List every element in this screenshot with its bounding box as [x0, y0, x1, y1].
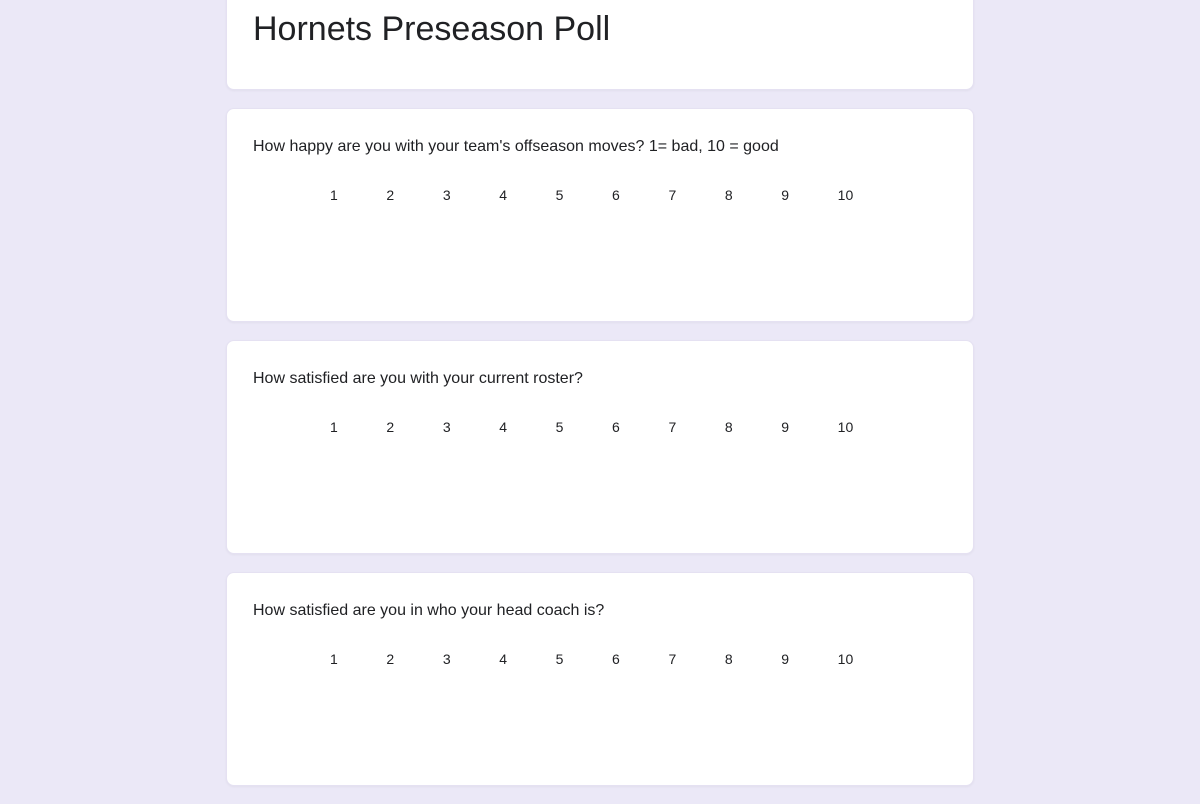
scale-label-3-4: 4 [498, 649, 507, 669]
scale-option-3-1[interactable]: 1 [329, 649, 385, 713]
scale-radio-3-2[interactable] [385, 669, 405, 713]
scale-label-3-3: 3 [442, 649, 451, 669]
page-title: Hornets Preseason Poll [253, 7, 947, 51]
scale-radio-2-5[interactable] [555, 437, 575, 481]
scale-label-3-9: 9 [780, 649, 789, 669]
linear-scale-2[interactable]: 1 2 3 4 5 [329, 417, 893, 481]
scale-label-1-2: 2 [385, 185, 394, 205]
scale-label-3-2: 2 [385, 649, 394, 669]
scale-label-3-8: 8 [724, 649, 733, 669]
scale-label-2-8: 8 [724, 417, 733, 437]
scale-option-3-3[interactable]: 3 [442, 649, 498, 713]
scale-radio-2-4[interactable] [498, 437, 518, 481]
form-header-card: Hornets Preseason Poll [226, 0, 974, 90]
scale-radio-3-4[interactable] [498, 669, 518, 713]
scale-option-3-5[interactable]: 5 [555, 649, 611, 713]
scale-label-1-9: 9 [780, 185, 789, 205]
scale-option-2-6[interactable]: 6 [611, 417, 667, 481]
question-title-1: How happy are you with your team's offse… [253, 135, 947, 159]
scale-label-2-7: 7 [667, 417, 676, 437]
scale-option-1-7[interactable]: 7 [667, 185, 723, 249]
question-title-3: How satisfied are you in who your head c… [253, 599, 947, 623]
scale-option-2-7[interactable]: 7 [667, 417, 723, 481]
scale-option-2-4[interactable]: 4 [498, 417, 554, 481]
scale-label-3-10: 10 [837, 649, 854, 669]
scale-label-3-6: 6 [611, 649, 620, 669]
scale-option-2-3[interactable]: 3 [442, 417, 498, 481]
scale-option-1-5[interactable]: 5 [555, 185, 611, 249]
scale-radio-3-9[interactable] [780, 669, 800, 713]
scale-option-2-9[interactable]: 9 [780, 417, 836, 481]
scale-radio-1-10[interactable] [837, 205, 857, 249]
scale-label-2-6: 6 [611, 417, 620, 437]
linear-scale-3[interactable]: 1 2 3 4 5 [329, 649, 893, 713]
scale-option-1-2[interactable]: 2 [385, 185, 441, 249]
scale-label-1-4: 4 [498, 185, 507, 205]
scale-radio-2-10[interactable] [837, 437, 857, 481]
scale-option-2-2[interactable]: 2 [385, 417, 441, 481]
scale-label-1-10: 10 [837, 185, 854, 205]
question-card-2[interactable]: How satisfied are you with your current … [226, 340, 974, 554]
scale-option-3-6[interactable]: 6 [611, 649, 667, 713]
scale-radio-2-2[interactable] [385, 437, 405, 481]
scale-radio-1-6[interactable] [611, 205, 631, 249]
scale-label-1-3: 3 [442, 185, 451, 205]
scale-radio-1-5[interactable] [555, 205, 575, 249]
scale-option-2-8[interactable]: 8 [724, 417, 780, 481]
scale-label-3-1: 1 [329, 649, 338, 669]
scale-label-1-6: 6 [611, 185, 620, 205]
scale-option-3-2[interactable]: 2 [385, 649, 441, 713]
scale-option-1-10[interactable]: 10 [837, 185, 893, 249]
linear-scale-1[interactable]: 1 2 3 4 5 [329, 185, 893, 249]
scale-label-1-1: 1 [329, 185, 338, 205]
scale-radio-3-3[interactable] [442, 669, 462, 713]
form-column: Hornets Preseason Poll How happy are you… [226, 0, 974, 804]
scale-radio-1-8[interactable] [724, 205, 744, 249]
scale-label-1-5: 5 [555, 185, 564, 205]
scale-option-1-3[interactable]: 3 [442, 185, 498, 249]
scale-radio-2-6[interactable] [611, 437, 631, 481]
scale-label-3-7: 7 [667, 649, 676, 669]
scale-label-1-8: 8 [724, 185, 733, 205]
form-page: Hornets Preseason Poll How happy are you… [0, 0, 1200, 630]
scale-radio-3-7[interactable] [667, 669, 687, 713]
scale-label-2-10: 10 [837, 417, 854, 437]
scale-label-2-3: 3 [442, 417, 451, 437]
scale-radio-2-3[interactable] [442, 437, 462, 481]
scale-option-2-10[interactable]: 10 [837, 417, 893, 481]
scale-option-2-1[interactable]: 1 [329, 417, 385, 481]
scale-radio-2-8[interactable] [724, 437, 744, 481]
scale-radio-2-7[interactable] [667, 437, 687, 481]
scale-option-2-5[interactable]: 5 [555, 417, 611, 481]
scale-option-1-1[interactable]: 1 [329, 185, 385, 249]
question-card-3[interactable]: How satisfied are you in who your head c… [226, 572, 974, 786]
question-title-2: How satisfied are you with your current … [253, 367, 947, 391]
scale-radio-3-1[interactable] [329, 669, 349, 713]
scale-label-2-2: 2 [385, 417, 394, 437]
scale-option-3-4[interactable]: 4 [498, 649, 554, 713]
scale-option-3-9[interactable]: 9 [780, 649, 836, 713]
scale-option-1-4[interactable]: 4 [498, 185, 554, 249]
scale-label-2-1: 1 [329, 417, 338, 437]
scale-label-2-9: 9 [780, 417, 789, 437]
scale-radio-1-1[interactable] [329, 205, 349, 249]
scale-option-1-9[interactable]: 9 [780, 185, 836, 249]
scale-label-2-4: 4 [498, 417, 507, 437]
scale-option-3-7[interactable]: 7 [667, 649, 723, 713]
scale-option-3-10[interactable]: 10 [837, 649, 893, 713]
scale-radio-1-9[interactable] [780, 205, 800, 249]
scale-radio-1-4[interactable] [498, 205, 518, 249]
question-card-1[interactable]: How happy are you with your team's offse… [226, 108, 974, 322]
scale-radio-1-3[interactable] [442, 205, 462, 249]
scale-option-1-6[interactable]: 6 [611, 185, 667, 249]
scale-option-1-8[interactable]: 8 [724, 185, 780, 249]
scale-radio-1-7[interactable] [667, 205, 687, 249]
scale-label-1-7: 7 [667, 185, 676, 205]
scale-radio-3-6[interactable] [611, 669, 631, 713]
scale-radio-2-9[interactable] [780, 437, 800, 481]
scale-radio-3-8[interactable] [724, 669, 744, 713]
scale-option-3-8[interactable]: 8 [724, 649, 780, 713]
scale-label-2-5: 5 [555, 417, 564, 437]
scale-radio-3-5[interactable] [555, 669, 575, 713]
scale-radio-2-1[interactable] [329, 437, 349, 481]
scale-label-3-5: 5 [555, 649, 564, 669]
scale-radio-1-2[interactable] [385, 205, 405, 249]
scale-radio-3-10[interactable] [837, 669, 857, 713]
